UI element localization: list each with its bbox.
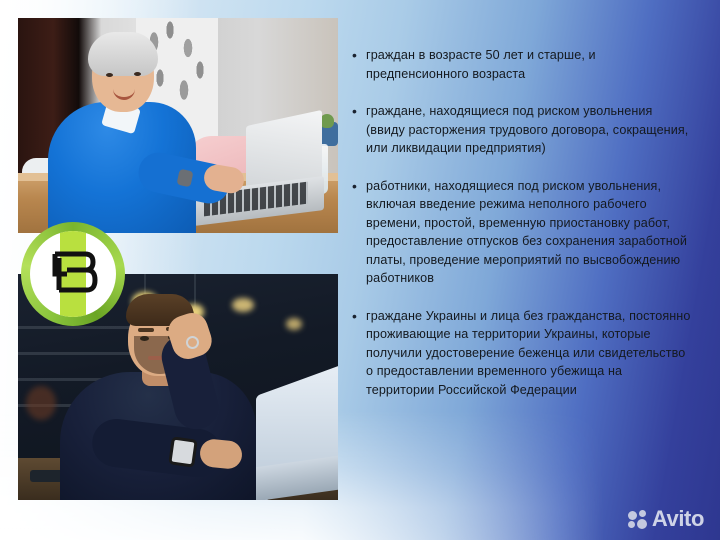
list-item-text: работники, находящиеся под риском увольн… bbox=[366, 177, 692, 288]
avito-dots-icon bbox=[628, 510, 647, 529]
bokeh-light-4 bbox=[286, 318, 302, 330]
company-monogram-logo bbox=[21, 222, 125, 326]
slide-canvas: • граждан в возрасте 50 лет и старше, и … bbox=[0, 0, 720, 540]
list-item-text: граждан в возрасте 50 лет и старше, и пр… bbox=[366, 46, 692, 83]
logo-monogram-mark bbox=[30, 231, 116, 317]
bullet-marker-icon: • bbox=[352, 102, 366, 121]
list-item-text: граждане, находящиеся под риском увольне… bbox=[366, 102, 692, 158]
small-plant bbox=[320, 114, 334, 128]
avito-wordmark: Avito bbox=[652, 506, 704, 532]
bullet-marker-icon: • bbox=[352, 307, 366, 326]
photo-woman bbox=[18, 18, 338, 233]
man-eye-left bbox=[140, 336, 149, 341]
bullet-list: • граждан в возрасте 50 лет и старше, и … bbox=[352, 46, 692, 418]
list-item-text: граждане Украины и лица без гражданства,… bbox=[366, 307, 692, 400]
woman-eye-right bbox=[134, 72, 141, 76]
man-ring bbox=[186, 336, 199, 349]
bokeh-light-3 bbox=[232, 298, 254, 312]
list-item: • граждан в возрасте 50 лет и старше, и … bbox=[352, 46, 692, 83]
monogram-b-icon bbox=[45, 248, 101, 300]
woman-hair bbox=[88, 32, 158, 76]
man-brow-left bbox=[138, 328, 154, 332]
avito-watermark: Avito bbox=[628, 506, 704, 532]
woman-eye-left bbox=[106, 73, 113, 77]
list-item: • граждане Украины и лица без гражданств… bbox=[352, 307, 692, 400]
list-item: • работники, находящиеся под риском увол… bbox=[352, 177, 692, 288]
photo-woman-scene bbox=[18, 18, 338, 233]
bokeh-dark-blob bbox=[26, 386, 56, 420]
lamp-cord-2 bbox=[194, 274, 196, 308]
bullet-marker-icon: • bbox=[352, 46, 366, 65]
man-wristwatch bbox=[168, 436, 198, 467]
logo-white-disc bbox=[30, 231, 116, 317]
list-item: • граждане, находящиеся под риском уволь… bbox=[352, 102, 692, 158]
bullet-marker-icon: • bbox=[352, 177, 366, 196]
